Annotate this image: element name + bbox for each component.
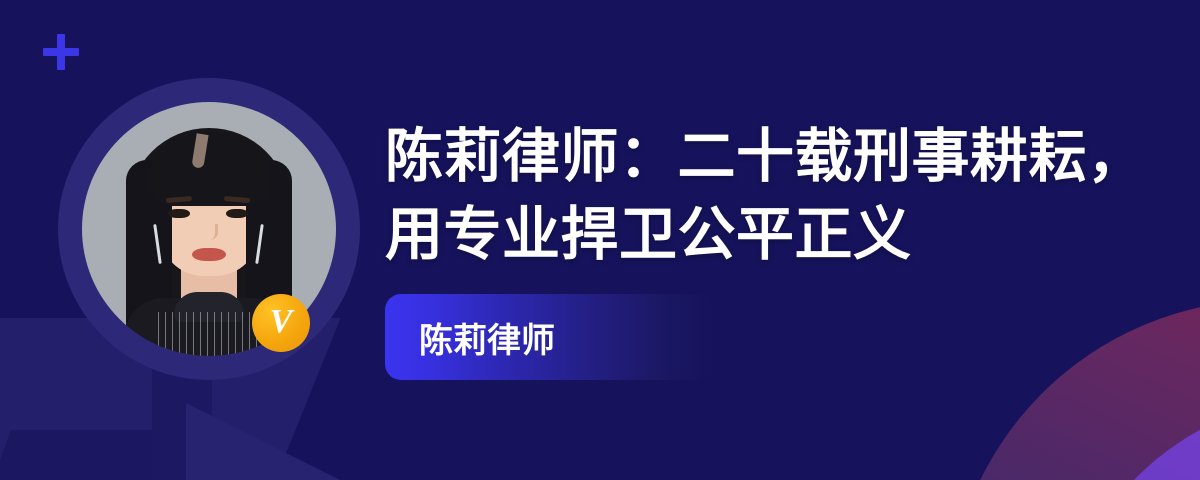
verified-badge-icon: V [252, 294, 310, 352]
plus-icon [42, 33, 80, 71]
lawyer-name-button[interactable]: 陈莉律师 [385, 294, 715, 380]
content-block: 陈莉律师：二十载刑事耕耘，用专业捍卫公平正义 陈莉律师 [385, 118, 1175, 274]
verified-badge-letter: V [270, 305, 293, 339]
avatar [58, 78, 360, 380]
page-title: 陈莉律师：二十载刑事耕耘，用专业捍卫公平正义 [385, 118, 1175, 274]
lawyer-profile-banner: V 陈莉律师：二十载刑事耕耘，用专业捍卫公平正义 陈莉律师 [0, 0, 1200, 480]
